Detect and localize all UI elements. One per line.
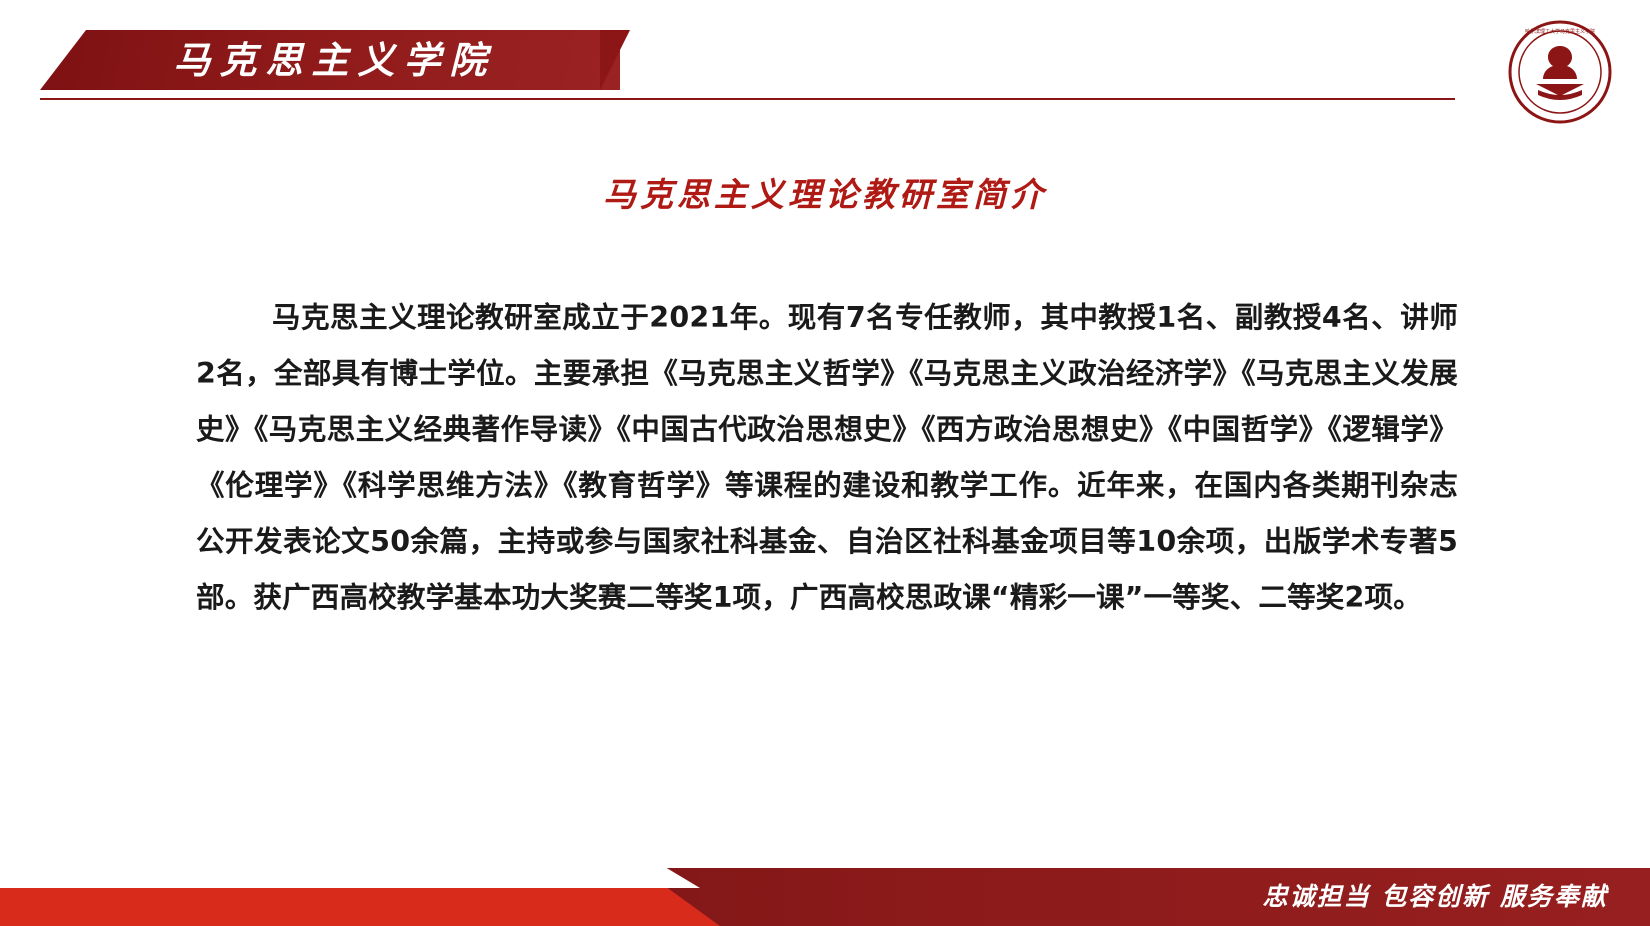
header-divider-line [40,98,1455,100]
institute-name: 马克思主义学院 [40,30,620,90]
footer-wedge-accent [0,864,700,888]
university-seal-logo: 哈尔滨理工大学马克思主义学院 [1508,20,1612,124]
footer-slogan: 忠诚担当 包容创新 服务奉献 [1263,868,1608,926]
page-title: 马克思主义理论教研室简介 [0,168,1650,216]
header-banner-bar: 马克思主义学院 [40,30,620,90]
slide-header: 马克思主义学院 哈尔滨理工大学马克思主义学院 [0,0,1650,130]
svg-text:哈尔滨理工大学马克思主义学院: 哈尔滨理工大学马克思主义学院 [1525,28,1595,35]
slide-footer: 忠诚担当 包容创新 服务奉献 [0,830,1650,926]
slide-body-paragraph: 马克思主义理论教研室成立于2021年。现有7名专任教师，其中教授1名、副教授4名… [196,290,1458,626]
